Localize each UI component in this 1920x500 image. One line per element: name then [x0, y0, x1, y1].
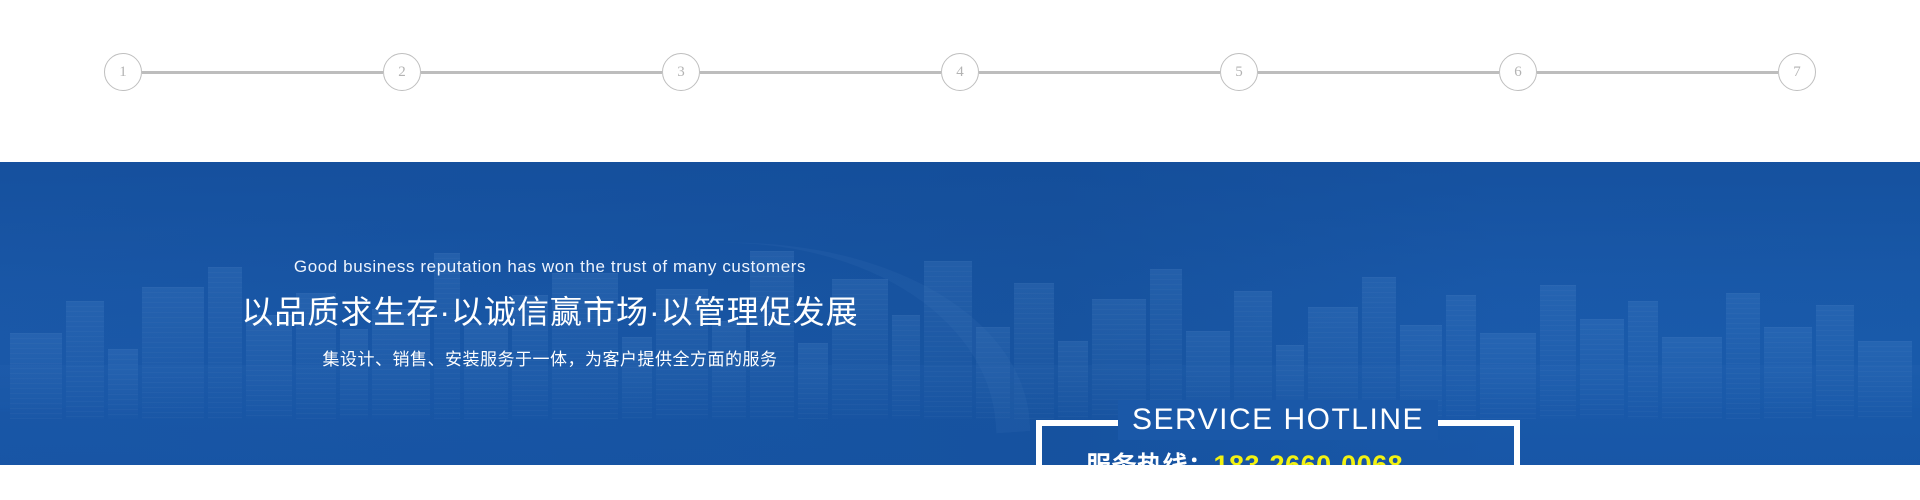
bottom-white-strip [0, 465, 1920, 500]
banner-tagline-english: Good business reputation has won the tru… [294, 257, 806, 277]
step-node-4[interactable]: 4 [941, 53, 979, 91]
promo-banner: Good business reputation has won the tru… [0, 162, 1920, 465]
step-node-2[interactable]: 2 [383, 53, 421, 91]
hotline-title: SERVICE HOTLINE [1118, 400, 1438, 440]
step-number-label: 6 [1514, 65, 1522, 80]
step-node-6[interactable]: 6 [1499, 53, 1537, 91]
step-number-label: 7 [1793, 65, 1801, 80]
step-node-1[interactable]: 1 [104, 53, 142, 91]
step-node-3[interactable]: 3 [662, 53, 700, 91]
hotline-title-wrap: SERVICE HOTLINE [1036, 398, 1520, 442]
step-connector-1-2 [142, 71, 383, 74]
step-connector-6-7 [1537, 71, 1778, 74]
service-hotline-box: SERVICE HOTLINE 服务热线： 183-2660-0068 0551… [1036, 420, 1520, 465]
step-number-label: 1 [119, 65, 127, 80]
step-number-label: 2 [398, 65, 406, 80]
step-connector-2-3 [421, 71, 662, 74]
step-number-label: 4 [956, 65, 964, 80]
hotline-phone-primary[interactable]: 183-2660-0068 [1214, 450, 1404, 465]
step-number-label: 5 [1235, 65, 1243, 80]
stepper-band: 1 2 3 4 5 6 7 [0, 0, 1920, 162]
hotline-label: 服务热线： [1086, 446, 1214, 465]
banner-subheadline-chinese: 集设计、销售、安装服务于一体，为客户提供全方面的服务 [323, 345, 778, 370]
page-root: 1 2 3 4 5 6 7 [0, 0, 1920, 500]
step-node-5[interactable]: 5 [1220, 53, 1258, 91]
step-node-7[interactable]: 7 [1778, 53, 1816, 91]
hotline-row-primary: 服务热线： 183-2660-0068 [1036, 446, 1520, 465]
hotline-number-list: 服务热线： 183-2660-0068 0551-63749777 [1036, 446, 1520, 465]
banner-headline-chinese: 以品质求生存·以诚信赢市场·以管理促发展 [241, 287, 858, 333]
banner-text-block: Good business reputation has won the tru… [0, 162, 1040, 465]
step-connector-3-4 [700, 71, 941, 74]
step-progress-bar: 1 2 3 4 5 6 7 [104, 52, 1816, 92]
step-connector-5-6 [1258, 71, 1499, 74]
step-connector-4-5 [979, 71, 1220, 74]
step-number-label: 3 [677, 65, 685, 80]
